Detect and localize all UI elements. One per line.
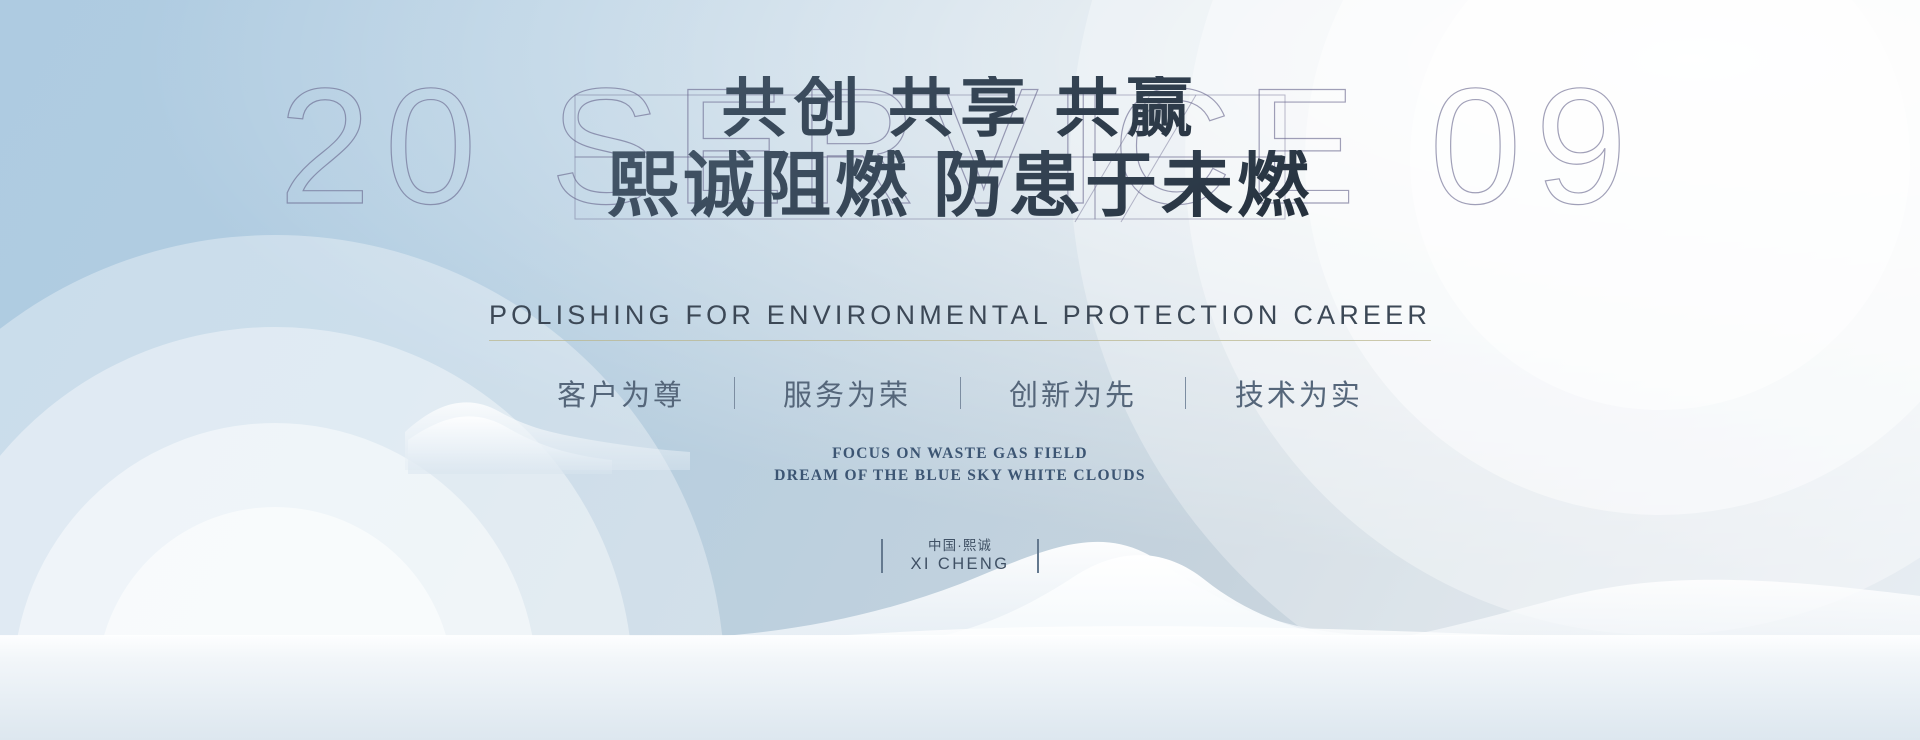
value-separator-3 bbox=[1185, 377, 1186, 409]
brand-text-group: 中国·熙诚 XI CHENG bbox=[911, 538, 1010, 575]
english-tagline: POLISHING FOR ENVIRONMENTAL PROTECTION C… bbox=[489, 300, 1431, 341]
couplet-line-1: FOCUS ON WASTE GAS FIELD bbox=[0, 443, 1920, 465]
brand-name-en: XI CHENG bbox=[911, 554, 1010, 574]
brand-divider-right bbox=[1037, 539, 1039, 573]
english-couplet: FOCUS ON WASTE GAS FIELD DREAM OF THE BL… bbox=[0, 443, 1920, 487]
value-separator-2 bbox=[960, 377, 961, 409]
value-item-3: 创新为先 bbox=[1009, 372, 1137, 414]
headline-line-1: 共创 共享 共赢 bbox=[0, 76, 1920, 142]
value-item-1: 客户为尊 bbox=[557, 372, 685, 414]
headline-block: 共创 共享 共赢 熙诚阻燃 防患于未燃 bbox=[0, 76, 1920, 222]
tagline-wrapper: POLISHING FOR ENVIRONMENTAL PROTECTION C… bbox=[0, 300, 1920, 341]
value-item-4: 技术为实 bbox=[1235, 372, 1363, 414]
brand-divider-left bbox=[881, 539, 883, 573]
floor-band bbox=[0, 636, 1920, 740]
value-item-2: 服务为荣 bbox=[783, 372, 911, 414]
brand-lockup: 中国·熙诚 XI CHENG bbox=[0, 538, 1920, 575]
brand-name-cn: 中国·熙诚 bbox=[911, 538, 1010, 554]
values-row: 客户为尊 服务为荣 创新为先 技术为实 bbox=[0, 372, 1920, 414]
headline-line-2: 熙诚阻燃 防患于未燃 bbox=[0, 150, 1920, 222]
value-separator-1 bbox=[734, 377, 735, 409]
banner-canvas: 20 SERVICE 09 共创 共享 共赢 熙诚阻燃 防患于未燃 bbox=[0, 0, 1920, 740]
couplet-line-2: DREAM OF THE BLUE SKY WHITE CLOUDS bbox=[0, 465, 1920, 487]
